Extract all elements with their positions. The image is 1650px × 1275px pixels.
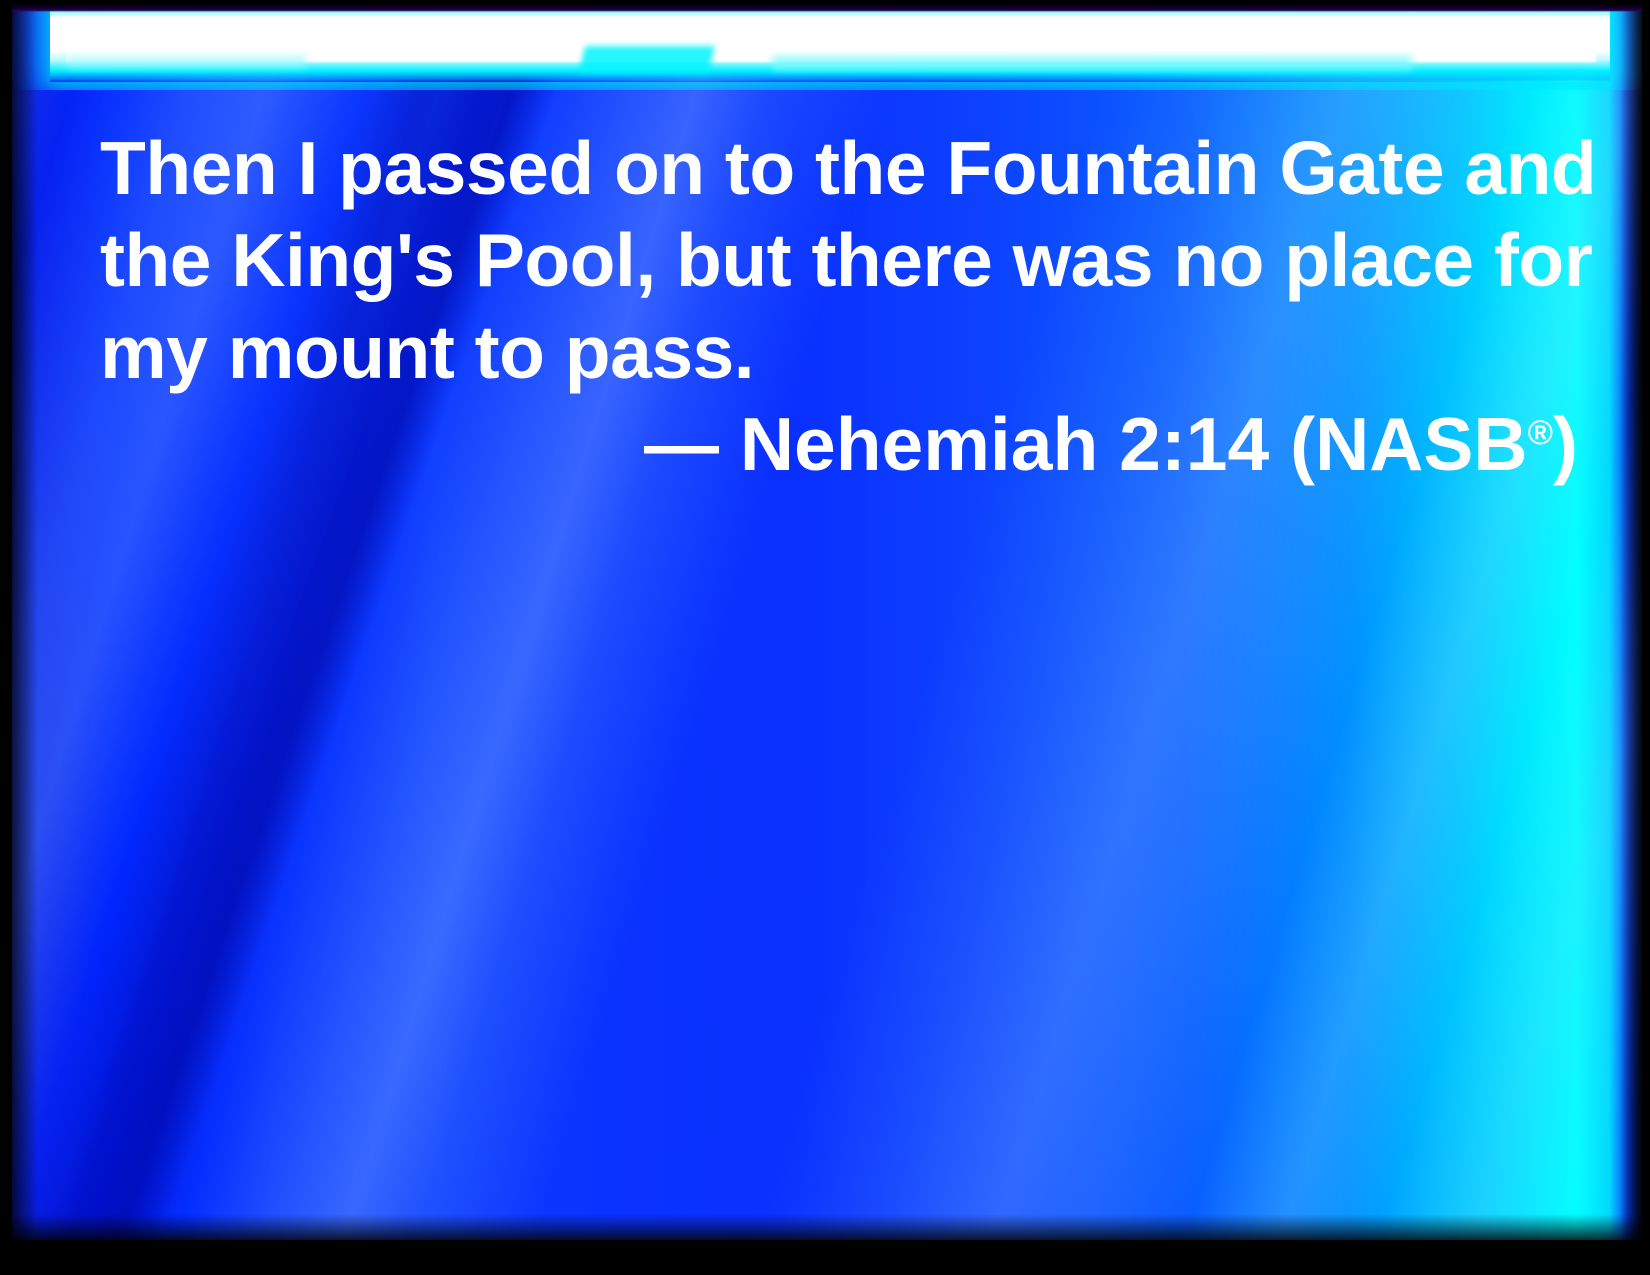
verse-line-3: my mount to pass. [100,306,1580,398]
attribution-translation-close: ) [1553,402,1578,486]
verse-slide: Then I passed on to the Fountain Gate an… [0,0,1650,1275]
top-banner [12,4,1642,90]
attribution-em-dash: — [644,402,719,486]
attribution-translation-open: (NASB [1290,402,1528,486]
top-banner-cyan-streak-left [66,56,306,68]
top-banner-cyan-notch [579,46,715,72]
top-banner-cyan-streak-right [772,56,1412,70]
attribution-chapter-verse: 2:14 [1119,402,1269,486]
attribution-book: Nehemiah [740,402,1098,486]
verse-line-2: the King's Pool, but there was no place … [100,214,1580,306]
slide-canvas: Then I passed on to the Fountain Gate an… [12,4,1642,1240]
top-edge-line [12,4,1642,12]
verse-line-1: Then I passed on to the Fountain Gate an… [100,122,1580,214]
verse-attribution: — Nehemiah 2:14 (NASB®) [100,398,1580,490]
verse-text-block: Then I passed on to the Fountain Gate an… [100,122,1580,490]
registered-trademark-icon: ® [1528,414,1553,452]
